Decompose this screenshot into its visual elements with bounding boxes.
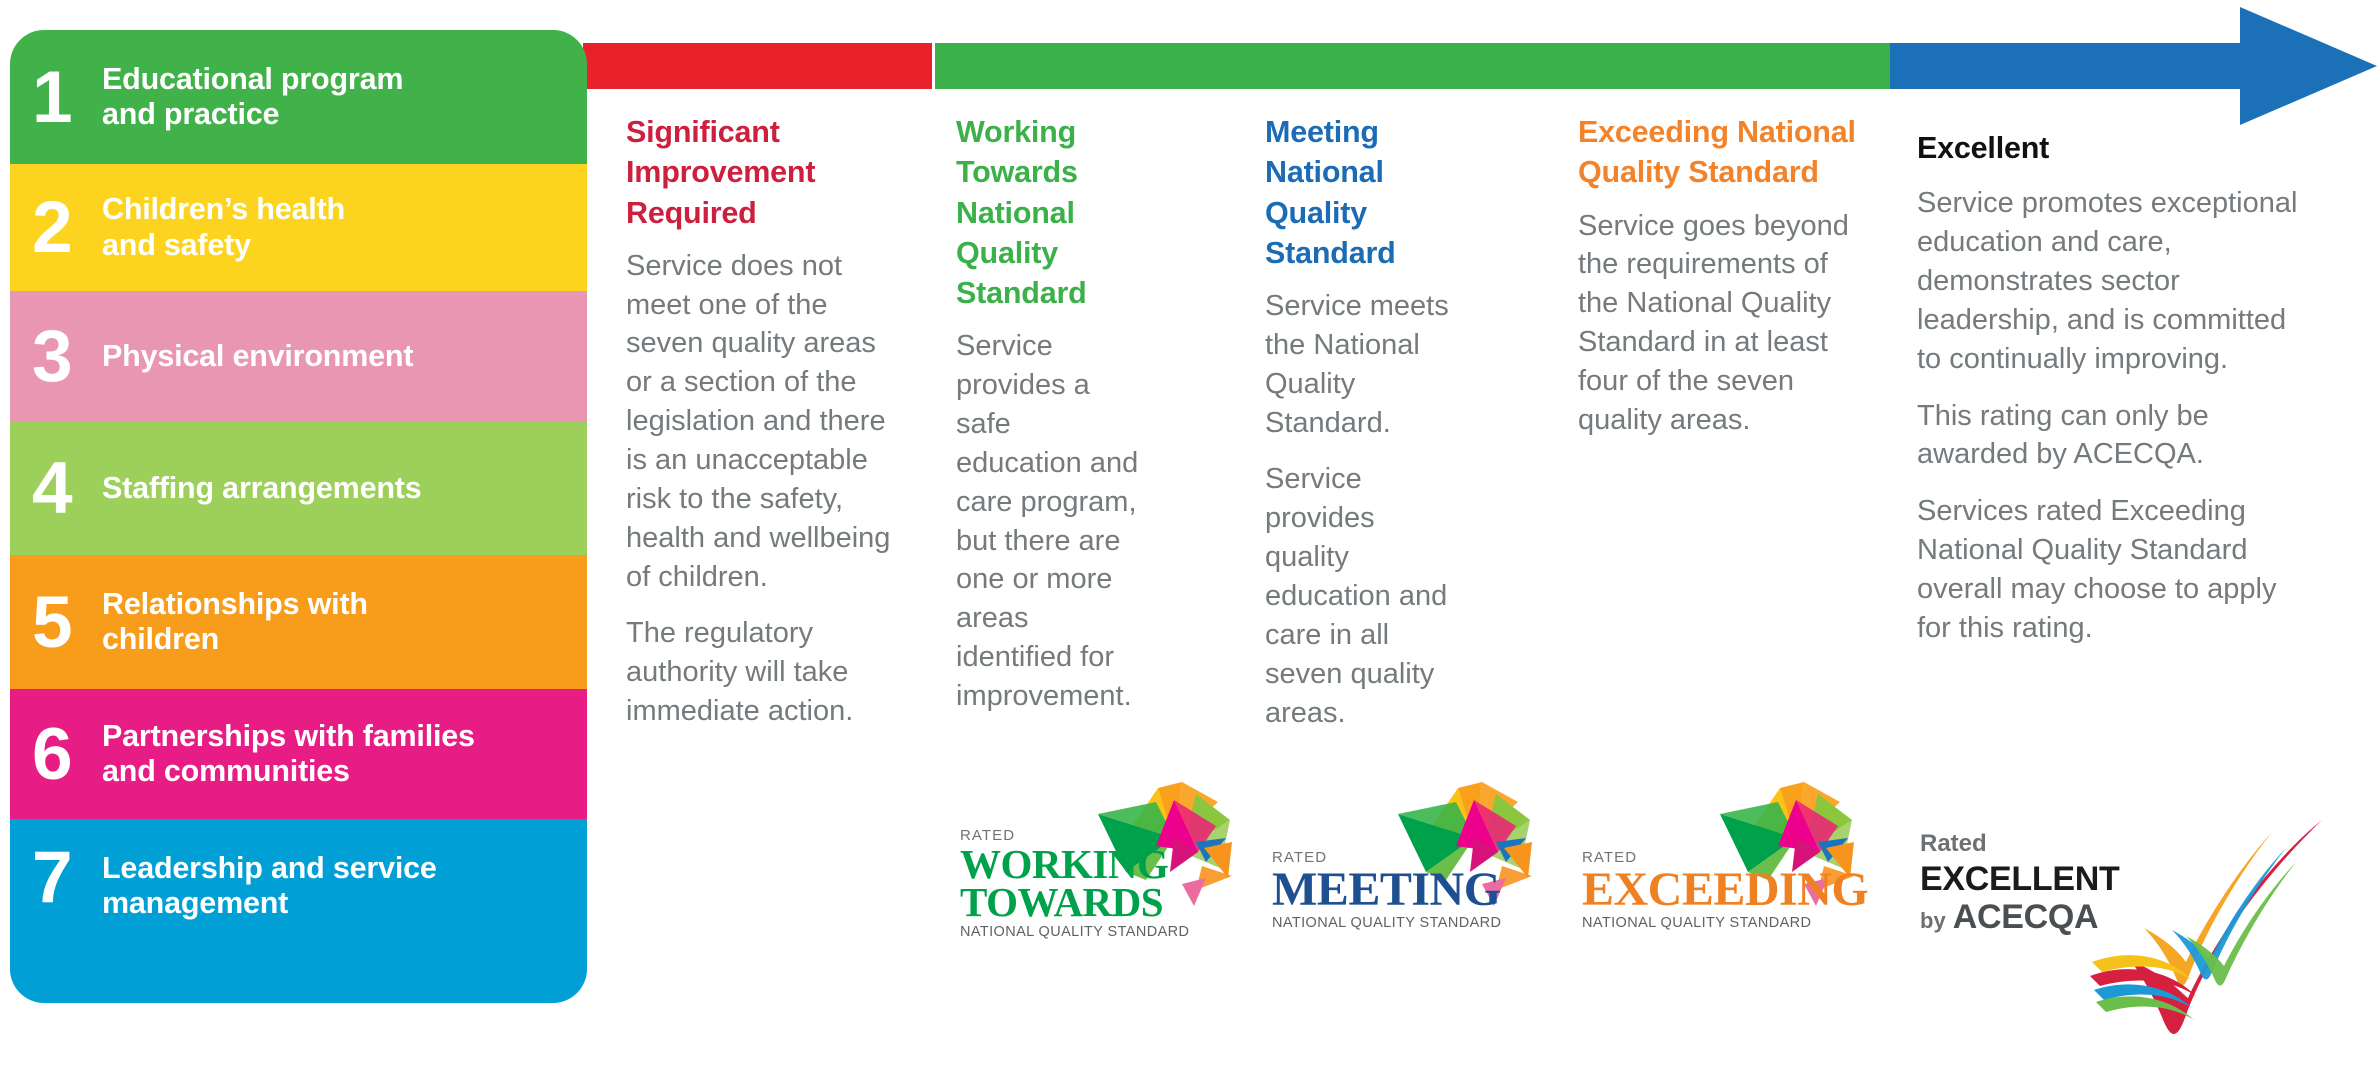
rating-column-meeting: Meeting National Quality Standard Servic… xyxy=(1265,112,1461,732)
excellent-badge-text-block: Rated EXCELLENT by ACECQA xyxy=(1920,832,2119,935)
badge-text-block: RATED EXCEEDING NATIONAL QUALITY STANDAR… xyxy=(1582,850,1868,950)
rating-body-working-towards: Service provides a safe education and ca… xyxy=(956,327,1144,716)
rating-column-exceeding: Exceeding National Quality Standard Serv… xyxy=(1578,112,1858,440)
rating-body-meeting: Service meets the National Quality Stand… xyxy=(1265,287,1461,732)
quality-area-row[interactable]: 4 Staffing arrangements xyxy=(10,422,587,555)
quality-rating-progression-arrow xyxy=(583,43,2377,89)
rating-body-exceeding: Service goes beyond the requirements of … xyxy=(1578,207,1858,440)
rating-column-working-towards: Working Towards National Quality Standar… xyxy=(956,112,1144,716)
rating-paragraph: Service provides quality education and c… xyxy=(1265,460,1461,732)
rating-title-meeting: Meeting National Quality Standard xyxy=(1265,112,1461,273)
infographic-canvas: 1 Educational program and practice 2 Chi… xyxy=(0,0,2377,1085)
arrow-segment-red xyxy=(583,43,932,89)
badge-sub-label: NATIONAL QUALITY STANDARD xyxy=(1272,916,1501,931)
rating-paragraph: Services rated Exceeding National Qualit… xyxy=(1917,492,2307,647)
quality-area-number: 5 xyxy=(32,586,98,659)
quality-area-label: Leadership and service management xyxy=(98,841,437,922)
badge-rated-working-towards: RATED WORKING TOWARDS NATIONAL QUALITY S… xyxy=(960,780,1230,960)
seven-quality-areas-panel: 1 Educational program and practice 2 Chi… xyxy=(10,30,587,1003)
badge-main-label: EXCELLENT xyxy=(1920,862,2119,898)
rating-paragraph: Service provides a safe education and ca… xyxy=(956,327,1144,716)
badge-text-block: RATED WORKING TOWARDS NATIONAL QUALITY S… xyxy=(960,828,1189,960)
rating-paragraph: This rating can only be awarded by ACECQ… xyxy=(1917,397,2307,475)
rating-title-significant: Significant Improvement Required xyxy=(626,112,901,233)
badge-sub-label: NATIONAL QUALITY STANDARD xyxy=(1582,916,1868,931)
quality-area-label: Physical environment xyxy=(98,339,413,374)
badge-main-label: WORKING TOWARDS xyxy=(960,846,1189,921)
rating-paragraph: The regulatory authority will take immed… xyxy=(626,614,901,731)
quality-area-number: 1 xyxy=(32,61,98,134)
badge-rated-exceeding: RATED EXCEEDING NATIONAL QUALITY STANDAR… xyxy=(1582,780,1872,950)
arrow-head-icon xyxy=(2240,7,2377,125)
badge-by-acecqa-line: by ACECQA xyxy=(1920,900,2119,936)
rating-title-working-towards: Working Towards National Quality Standar… xyxy=(956,112,1144,313)
badge-rated-excellent-by-acecqa: Rated EXCELLENT by ACECQA xyxy=(1920,800,2360,1050)
quality-area-number: 4 xyxy=(32,452,98,525)
rating-paragraph: Service promotes exceptional education a… xyxy=(1917,184,2307,378)
rating-title-exceeding: Exceeding National Quality Standard xyxy=(1578,112,1858,193)
rating-paragraph: Service meets the National Quality Stand… xyxy=(1265,287,1461,442)
quality-area-label: Partnerships with families and communiti… xyxy=(98,719,475,790)
quality-area-row[interactable]: 3 Physical environment xyxy=(10,291,587,422)
quality-area-number: 6 xyxy=(32,718,98,791)
badge-rated-label: Rated xyxy=(1920,832,2119,856)
quality-area-label: Educational program and practice xyxy=(98,62,403,133)
quality-area-label: Children’s health and safety xyxy=(98,192,345,263)
rating-title-excellent: Excellent xyxy=(1917,128,2307,168)
badge-main-label: EXCEEDING xyxy=(1582,868,1868,912)
badge-text-block: RATED MEETING NATIONAL QUALITY STANDARD xyxy=(1272,850,1501,950)
quality-area-number: 2 xyxy=(32,191,98,264)
badge-acecqa-label: ACECQA xyxy=(1953,900,2099,936)
arrow-segment-green xyxy=(935,43,1890,89)
quality-area-number: 7 xyxy=(32,841,98,914)
quality-area-row[interactable]: 6 Partnerships with families and communi… xyxy=(10,689,587,819)
quality-area-label: Relationships with children xyxy=(98,587,368,658)
rating-column-significant-improvement-required: Significant Improvement Required Service… xyxy=(626,112,901,731)
rating-body-excellent: Service promotes exceptional education a… xyxy=(1917,184,2307,647)
badge-by-label: by xyxy=(1920,908,1946,934)
rating-body-significant: Service does not meet one of the seven q… xyxy=(626,247,901,731)
quality-area-label: Staffing arrangements xyxy=(98,471,422,506)
quality-area-number: 3 xyxy=(32,320,98,393)
quality-area-row[interactable]: 2 Children’s health and safety xyxy=(10,164,587,291)
badge-rated-meeting: RATED MEETING NATIONAL QUALITY STANDARD xyxy=(1272,780,1542,950)
rating-paragraph: Service does not meet one of the seven q… xyxy=(626,247,901,597)
quality-area-row[interactable]: 5 Relationships with children xyxy=(10,555,587,689)
quality-area-row[interactable]: 7 Leadership and service management xyxy=(10,819,587,1003)
arrow-segment-blue xyxy=(1890,43,2240,89)
badge-sub-label: NATIONAL QUALITY STANDARD xyxy=(960,925,1189,940)
rating-column-excellent: Excellent Service promotes exceptional e… xyxy=(1917,128,2307,648)
badge-main-label: MEETING xyxy=(1272,868,1501,912)
rating-paragraph: Service goes beyond the requirements of … xyxy=(1578,207,1858,440)
quality-area-row[interactable]: 1 Educational program and practice xyxy=(10,30,587,164)
